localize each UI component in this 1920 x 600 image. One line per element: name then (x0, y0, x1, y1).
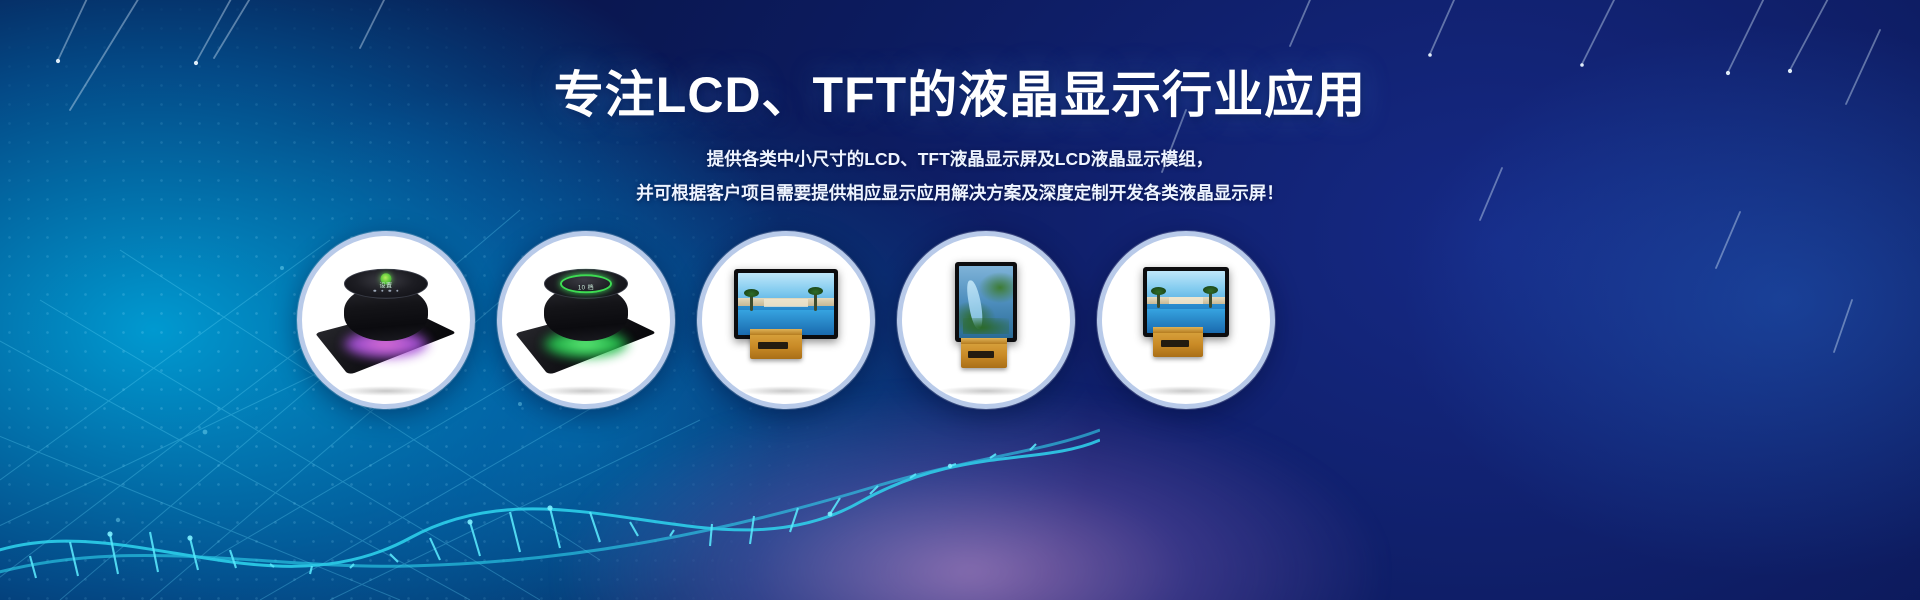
device-screen-label: 10 档 (578, 282, 594, 291)
lcd-panel-wide (734, 269, 838, 339)
device-screen-label: 设置 (379, 281, 392, 290)
product-circle-row: 设置 10 档 (0, 231, 1920, 411)
round-device-body: 10 档 (544, 285, 628, 341)
device-shadow (738, 386, 834, 396)
round-device-screen: 10 档 (544, 269, 628, 299)
hero-banner: 专注LCD、TFT的液晶显示行业应用 提供各类中小尺寸的LCD、TFT液晶显示屏… (0, 0, 1920, 600)
panel-photo (738, 273, 834, 335)
panel-photo (959, 266, 1013, 338)
product-circle-2[interactable]: 10 档 (497, 231, 675, 409)
subtitle-line-1: 提供各类中小尺寸的LCD、TFT液晶显示屏及LCD液晶显示模组， (0, 142, 1920, 176)
round-device-screen: 设置 (344, 269, 428, 299)
product-circle-1[interactable]: 设置 (297, 231, 475, 409)
lcd-panel-portrait (955, 262, 1017, 342)
round-device-body: 设置 (344, 285, 428, 341)
flex-cable-connector (961, 342, 1007, 368)
product-circle-3[interactable] (697, 231, 875, 409)
product-circle-4[interactable] (897, 231, 1075, 409)
flex-cable-connector (750, 333, 802, 359)
panel-photo (1147, 271, 1225, 333)
device-shadow (338, 386, 434, 396)
flex-cable-connector (1153, 331, 1203, 357)
lcd-panel-square (1143, 267, 1229, 337)
device-indicator-dots (373, 290, 398, 293)
subtitle-line-2: 并可根据客户项目需要提供相应显示应用解决方案及深度定制开发各类液晶显示屏！ (0, 176, 1920, 210)
product-circle-5[interactable] (1097, 231, 1275, 409)
page-title: 专注LCD、TFT的液晶显示行业应用 (0, 67, 1920, 123)
device-shadow (1138, 386, 1234, 396)
device-shadow (938, 386, 1034, 396)
banner-copy: 专注LCD、TFT的液晶显示行业应用 提供各类中小尺寸的LCD、TFT液晶显示屏… (0, 0, 1920, 210)
device-shadow (538, 386, 634, 396)
